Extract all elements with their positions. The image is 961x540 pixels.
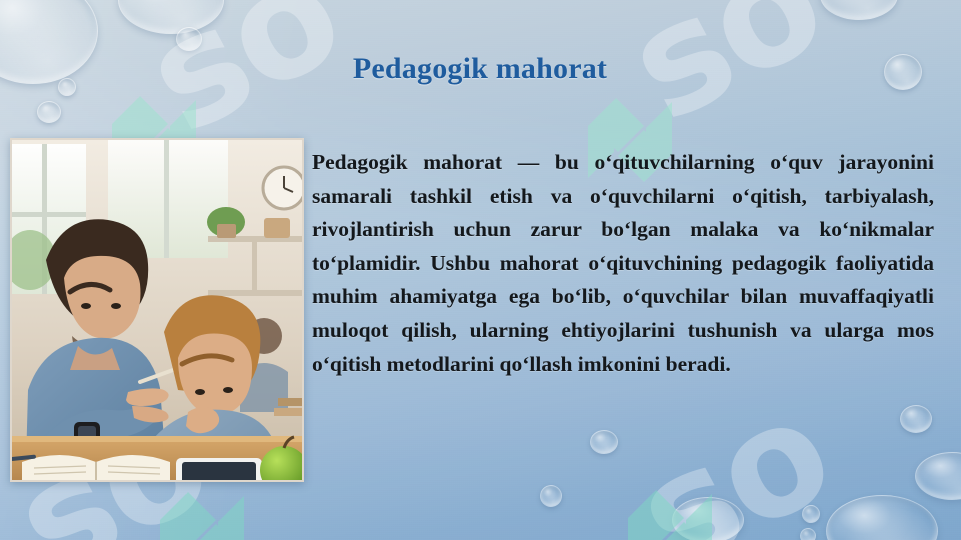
water-droplet-icon	[37, 101, 61, 123]
page-title: Pedagogik mahorat	[150, 52, 810, 86]
water-droplet-icon	[540, 485, 562, 507]
presentation-slide: so so so so	[0, 0, 961, 540]
slide-photo	[10, 138, 304, 482]
water-droplet-icon	[58, 78, 76, 96]
body-paragraph: Pedagogik mahorat — bu o‘qituvchilarning…	[312, 146, 934, 381]
water-droplet-icon	[0, 0, 98, 84]
k-chevron-logo-icon	[160, 480, 270, 540]
water-droplet-icon	[900, 405, 932, 433]
water-droplet-icon	[820, 0, 898, 20]
water-droplet-icon	[915, 452, 961, 500]
k-chevron-logo-icon	[628, 478, 738, 540]
water-droplet-icon	[884, 54, 922, 90]
